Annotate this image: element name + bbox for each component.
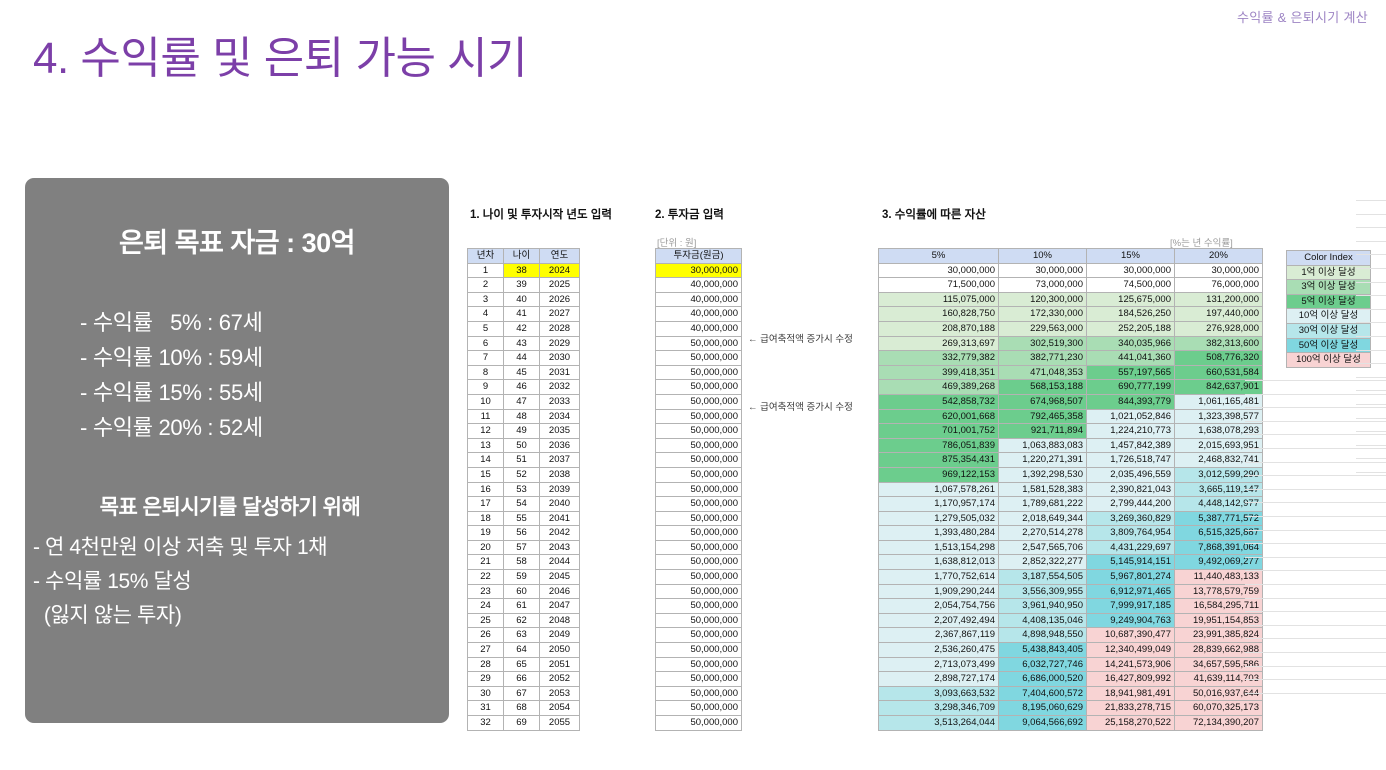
table-row[interactable]: 26632049 xyxy=(468,628,580,643)
asset-value-cell[interactable]: 469,389,268 xyxy=(879,380,999,395)
age-table-cell[interactable]: 27 xyxy=(468,643,504,658)
asset-value-cell[interactable]: 399,418,351 xyxy=(879,365,999,380)
asset-value-cell[interactable]: 340,035,966 xyxy=(1087,336,1175,351)
asset-value-cell[interactable]: 1,220,271,391 xyxy=(999,453,1087,468)
asset-value-cell[interactable]: 2,852,322,277 xyxy=(999,555,1087,570)
table-row[interactable]: 50,000,000 xyxy=(656,716,742,731)
table-row[interactable]: 17542040 xyxy=(468,497,580,512)
age-table-cell[interactable]: 2029 xyxy=(540,336,580,351)
table-row[interactable]: 9462032 xyxy=(468,380,580,395)
asset-value-cell[interactable]: 786,051,839 xyxy=(879,438,999,453)
age-table-cell[interactable]: 2049 xyxy=(540,628,580,643)
table-row[interactable]: 620,001,668792,465,3581,021,052,8461,323… xyxy=(879,409,1263,424)
table-row[interactable]: 29662052 xyxy=(468,672,580,687)
asset-value-cell[interactable]: 1,279,505,032 xyxy=(879,511,999,526)
age-table-cell[interactable]: 52 xyxy=(504,467,540,482)
table-row[interactable]: 12492035 xyxy=(468,424,580,439)
invest-table-body[interactable]: 30,000,00040,000,00040,000,00040,000,000… xyxy=(656,263,742,730)
asset-value-cell[interactable]: 74,500,000 xyxy=(1087,278,1175,293)
asset-value-cell[interactable]: 842,637,901 xyxy=(1175,380,1263,395)
table-row[interactable]: 50,000,000 xyxy=(656,555,742,570)
table-row[interactable]: 25622048 xyxy=(468,613,580,628)
investment-amount-table[interactable]: 투자금(원금) 30,000,00040,000,00040,000,00040… xyxy=(655,248,742,731)
asset-value-cell[interactable]: 1,726,518,747 xyxy=(1087,453,1175,468)
invest-amount-cell[interactable]: 30,000,000 xyxy=(656,263,742,278)
age-table-cell[interactable]: 2025 xyxy=(540,278,580,293)
asset-value-cell[interactable]: 252,205,188 xyxy=(1087,321,1175,336)
table-row[interactable]: 50,000,000 xyxy=(656,570,742,585)
age-table-cell[interactable]: 60 xyxy=(504,584,540,599)
age-table-cell[interactable]: 2047 xyxy=(540,599,580,614)
age-table-cell[interactable]: 2048 xyxy=(540,613,580,628)
asset-value-cell[interactable]: 2,390,821,043 xyxy=(1087,482,1175,497)
invest-amount-cell[interactable]: 50,000,000 xyxy=(656,453,742,468)
table-row[interactable]: 50,000,000 xyxy=(656,482,742,497)
age-table-cell[interactable]: 7 xyxy=(468,351,504,366)
age-table-cell[interactable]: 2036 xyxy=(540,438,580,453)
table-row[interactable]: 50,000,000 xyxy=(656,365,742,380)
asset-value-cell[interactable]: 4,431,229,697 xyxy=(1087,540,1175,555)
table-row[interactable]: 21582044 xyxy=(468,555,580,570)
asset-value-cell[interactable]: 3,961,940,950 xyxy=(999,599,1087,614)
table-row[interactable]: 50,000,000 xyxy=(656,511,742,526)
table-row[interactable]: 28652051 xyxy=(468,657,580,672)
table-row[interactable]: 50,000,000 xyxy=(656,672,742,687)
table-row[interactable]: 50,000,000 xyxy=(656,380,742,395)
asset-value-cell[interactable]: 25,158,270,522 xyxy=(1087,716,1175,731)
age-table-cell[interactable]: 14 xyxy=(468,453,504,468)
asset-value-cell[interactable]: 5,438,843,405 xyxy=(999,643,1087,658)
age-table-cell[interactable]: 56 xyxy=(504,526,540,541)
age-table-cell[interactable]: 3 xyxy=(468,292,504,307)
age-table-cell[interactable]: 8 xyxy=(468,365,504,380)
age-table-cell[interactable]: 2038 xyxy=(540,467,580,482)
age-table-cell[interactable]: 31 xyxy=(468,701,504,716)
table-row[interactable]: 1,638,812,0132,852,322,2775,145,914,1519… xyxy=(879,555,1263,570)
age-table-cell[interactable]: 49 xyxy=(504,424,540,439)
asset-value-cell[interactable]: 844,393,779 xyxy=(1087,394,1175,409)
table-row[interactable]: 50,000,000 xyxy=(656,701,742,716)
asset-value-cell[interactable]: 1,789,681,222 xyxy=(999,497,1087,512)
asset-value-cell[interactable]: 12,340,499,049 xyxy=(1087,643,1175,658)
age-table-cell[interactable]: 19 xyxy=(468,526,504,541)
age-table-cell[interactable]: 5 xyxy=(468,321,504,336)
table-row[interactable]: 2,367,867,1194,898,948,55010,687,390,477… xyxy=(879,628,1263,643)
asset-value-cell[interactable]: 11,440,483,133 xyxy=(1175,570,1263,585)
table-row[interactable]: 399,418,351471,048,353557,197,565660,531… xyxy=(879,365,1263,380)
age-table-cell[interactable]: 2040 xyxy=(540,497,580,512)
age-table-cell[interactable]: 54 xyxy=(504,497,540,512)
asset-value-cell[interactable]: 2,468,832,741 xyxy=(1175,453,1263,468)
age-table-cell[interactable]: 47 xyxy=(504,394,540,409)
invest-amount-cell[interactable]: 50,000,000 xyxy=(656,628,742,643)
table-row[interactable]: 50,000,000 xyxy=(656,424,742,439)
age-table-cell[interactable]: 2031 xyxy=(540,365,580,380)
age-table-cell[interactable]: 61 xyxy=(504,599,540,614)
table-row[interactable]: 2,898,727,1746,686,000,52016,427,809,992… xyxy=(879,672,1263,687)
table-row[interactable]: 50,000,000 xyxy=(656,453,742,468)
invest-amount-cell[interactable]: 50,000,000 xyxy=(656,686,742,701)
asset-value-cell[interactable]: 160,828,750 xyxy=(879,307,999,322)
asset-value-cell[interactable]: 30,000,000 xyxy=(999,263,1087,278)
table-row[interactable]: 50,000,000 xyxy=(656,394,742,409)
invest-amount-cell[interactable]: 50,000,000 xyxy=(656,570,742,585)
table-row[interactable]: 30672053 xyxy=(468,686,580,701)
age-table-cell[interactable]: 2033 xyxy=(540,394,580,409)
invest-amount-cell[interactable]: 50,000,000 xyxy=(656,599,742,614)
table-row[interactable]: 1382024 xyxy=(468,263,580,278)
table-row[interactable]: 3,093,663,5327,404,600,57218,941,981,491… xyxy=(879,686,1263,701)
invest-amount-cell[interactable]: 50,000,000 xyxy=(656,613,742,628)
table-row[interactable]: 1,279,505,0322,018,649,3443,269,360,8295… xyxy=(879,511,1263,526)
invest-amount-cell[interactable]: 40,000,000 xyxy=(656,278,742,293)
asset-value-cell[interactable]: 197,440,000 xyxy=(1175,307,1263,322)
asset-value-cell[interactable]: 21,833,278,715 xyxy=(1087,701,1175,716)
invest-amount-cell[interactable]: 50,000,000 xyxy=(656,336,742,351)
asset-value-cell[interactable]: 5,967,801,274 xyxy=(1087,570,1175,585)
asset-value-cell[interactable]: 701,001,752 xyxy=(879,424,999,439)
age-table-cell[interactable]: 50 xyxy=(504,438,540,453)
asset-value-cell[interactable]: 2,207,492,494 xyxy=(879,613,999,628)
age-table-cell[interactable]: 9 xyxy=(468,380,504,395)
table-row[interactable]: 50,000,000 xyxy=(656,584,742,599)
table-row[interactable]: 2392025 xyxy=(468,278,580,293)
asset-value-cell[interactable]: 2,015,693,951 xyxy=(1175,438,1263,453)
age-table-cell[interactable]: 2044 xyxy=(540,555,580,570)
table-row[interactable]: 50,000,000 xyxy=(656,643,742,658)
table-row[interactable]: 1,170,957,1741,789,681,2222,799,444,2004… xyxy=(879,497,1263,512)
table-row[interactable]: 8452031 xyxy=(468,365,580,380)
invest-amount-cell[interactable]: 50,000,000 xyxy=(656,511,742,526)
table-row[interactable]: 2,536,260,4755,438,843,40512,340,499,049… xyxy=(879,643,1263,658)
table-row[interactable]: 969,122,1531,392,298,5302,035,496,5593,0… xyxy=(879,467,1263,482)
age-table-cell[interactable]: 64 xyxy=(504,643,540,658)
asset-value-cell[interactable]: 2,547,565,706 xyxy=(999,540,1087,555)
table-row[interactable]: 469,389,268568,153,188690,777,199842,637… xyxy=(879,380,1263,395)
invest-amount-cell[interactable]: 40,000,000 xyxy=(656,321,742,336)
invest-amount-cell[interactable]: 50,000,000 xyxy=(656,365,742,380)
asset-value-cell[interactable]: 1,581,528,383 xyxy=(999,482,1087,497)
asset-value-cell[interactable]: 1,170,957,174 xyxy=(879,497,999,512)
age-table-cell[interactable]: 63 xyxy=(504,628,540,643)
age-table-cell[interactable]: 41 xyxy=(504,307,540,322)
age-table-cell[interactable]: 2035 xyxy=(540,424,580,439)
age-table-cell[interactable]: 57 xyxy=(504,540,540,555)
asset-value-cell[interactable]: 4,448,142,977 xyxy=(1175,497,1263,512)
asset-value-cell[interactable]: 16,427,809,992 xyxy=(1087,672,1175,687)
table-row[interactable]: 50,000,000 xyxy=(656,467,742,482)
table-row[interactable]: 50,000,000 xyxy=(656,628,742,643)
age-table-body[interactable]: 1382024239202534020264412027542202864320… xyxy=(468,263,580,730)
asset-value-cell[interactable]: 23,991,385,824 xyxy=(1175,628,1263,643)
age-table-cell[interactable]: 59 xyxy=(504,570,540,585)
asset-value-cell[interactable]: 674,968,507 xyxy=(999,394,1087,409)
asset-value-cell[interactable]: 542,858,732 xyxy=(879,394,999,409)
age-table-cell[interactable]: 42 xyxy=(504,321,540,336)
asset-value-cell[interactable]: 921,711,894 xyxy=(999,424,1087,439)
age-table-cell[interactable]: 30 xyxy=(468,686,504,701)
asset-value-cell[interactable]: 1,063,883,083 xyxy=(999,438,1087,453)
asset-value-cell[interactable]: 2,713,073,499 xyxy=(879,657,999,672)
asset-value-cell[interactable]: 6,032,727,746 xyxy=(999,657,1087,672)
age-table-cell[interactable]: 2046 xyxy=(540,584,580,599)
asset-value-cell[interactable]: 302,519,300 xyxy=(999,336,1087,351)
table-row[interactable]: 19562042 xyxy=(468,526,580,541)
asset-value-cell[interactable]: 208,870,188 xyxy=(879,321,999,336)
age-table-cell[interactable]: 2030 xyxy=(540,351,580,366)
asset-value-cell[interactable]: 620,001,668 xyxy=(879,409,999,424)
table-row[interactable]: 23602046 xyxy=(468,584,580,599)
asset-value-cell[interactable]: 690,777,199 xyxy=(1087,380,1175,395)
age-table-cell[interactable]: 26 xyxy=(468,628,504,643)
asset-value-cell[interactable]: 4,898,948,550 xyxy=(999,628,1087,643)
asset-value-cell[interactable]: 6,515,325,887 xyxy=(1175,526,1263,541)
age-table-cell[interactable]: 4 xyxy=(468,307,504,322)
age-table-cell[interactable]: 2028 xyxy=(540,321,580,336)
invest-amount-cell[interactable]: 50,000,000 xyxy=(656,467,742,482)
asset-value-cell[interactable]: 184,526,250 xyxy=(1087,307,1175,322)
asset-value-cell[interactable]: 34,657,595,586 xyxy=(1175,657,1263,672)
table-row[interactable]: 50,000,000 xyxy=(656,497,742,512)
asset-value-cell[interactable]: 3,298,346,709 xyxy=(879,701,999,716)
table-row[interactable]: 14512037 xyxy=(468,453,580,468)
asset-value-cell[interactable]: 441,041,360 xyxy=(1087,351,1175,366)
asset-value-cell[interactable]: 2,270,514,278 xyxy=(999,526,1087,541)
age-table-cell[interactable]: 48 xyxy=(504,409,540,424)
table-row[interactable]: 20572043 xyxy=(468,540,580,555)
age-table-cell[interactable]: 39 xyxy=(504,278,540,293)
asset-value-cell[interactable]: 2,536,260,475 xyxy=(879,643,999,658)
age-table-cell[interactable]: 1 xyxy=(468,263,504,278)
table-row[interactable]: 1,909,290,2443,556,309,9556,912,971,4651… xyxy=(879,584,1263,599)
table-row[interactable]: 3,513,264,0449,064,566,69225,158,270,522… xyxy=(879,716,1263,731)
age-table-cell[interactable]: 20 xyxy=(468,540,504,555)
table-row[interactable]: 701,001,752921,711,8941,224,210,7731,638… xyxy=(879,424,1263,439)
asset-value-cell[interactable]: 229,563,000 xyxy=(999,321,1087,336)
asset-value-cell[interactable]: 382,771,230 xyxy=(999,351,1087,366)
asset-value-cell[interactable]: 72,134,390,207 xyxy=(1175,716,1263,731)
age-table-cell[interactable]: 28 xyxy=(468,657,504,672)
asset-value-cell[interactable]: 71,500,000 xyxy=(879,278,999,293)
table-row[interactable]: 1,393,480,2842,270,514,2783,809,764,9546… xyxy=(879,526,1263,541)
table-row[interactable]: 40,000,000 xyxy=(656,292,742,307)
asset-value-cell[interactable]: 276,928,000 xyxy=(1175,321,1263,336)
invest-amount-cell[interactable]: 50,000,000 xyxy=(656,380,742,395)
asset-value-cell[interactable]: 557,197,565 xyxy=(1087,365,1175,380)
table-row[interactable]: 27642050 xyxy=(468,643,580,658)
asset-value-cell[interactable]: 1,021,052,846 xyxy=(1087,409,1175,424)
invest-amount-cell[interactable]: 50,000,000 xyxy=(656,657,742,672)
table-row[interactable]: 50,000,000 xyxy=(656,351,742,366)
asset-value-cell[interactable]: 471,048,353 xyxy=(999,365,1087,380)
table-row[interactable]: 50,000,000 xyxy=(656,526,742,541)
age-table-cell[interactable]: 62 xyxy=(504,613,540,628)
asset-value-cell[interactable]: 3,093,663,532 xyxy=(879,686,999,701)
asset-value-cell[interactable]: 1,770,752,614 xyxy=(879,570,999,585)
asset-value-cell[interactable]: 30,000,000 xyxy=(1087,263,1175,278)
asset-value-cell[interactable]: 13,778,579,759 xyxy=(1175,584,1263,599)
table-row[interactable]: 5422028 xyxy=(468,321,580,336)
age-table-cell[interactable]: 2043 xyxy=(540,540,580,555)
asset-value-cell[interactable]: 269,313,697 xyxy=(879,336,999,351)
age-table-cell[interactable]: 45 xyxy=(504,365,540,380)
age-table-cell[interactable]: 2032 xyxy=(540,380,580,395)
asset-value-cell[interactable]: 969,122,153 xyxy=(879,467,999,482)
table-row[interactable]: 22592045 xyxy=(468,570,580,585)
age-table-cell[interactable]: 51 xyxy=(504,453,540,468)
asset-value-cell[interactable]: 1,457,842,389 xyxy=(1087,438,1175,453)
age-table-cell[interactable]: 15 xyxy=(468,467,504,482)
age-table-cell[interactable]: 2053 xyxy=(540,686,580,701)
table-row[interactable]: 40,000,000 xyxy=(656,307,742,322)
asset-value-cell[interactable]: 120,300,000 xyxy=(999,292,1087,307)
table-row[interactable]: 6432029 xyxy=(468,336,580,351)
age-table-cell[interactable]: 65 xyxy=(504,657,540,672)
table-row[interactable]: 71,500,00073,000,00074,500,00076,000,000 xyxy=(879,278,1263,293)
asset-value-cell[interactable]: 3,269,360,829 xyxy=(1087,511,1175,526)
age-table-cell[interactable]: 13 xyxy=(468,438,504,453)
age-table-cell[interactable]: 2042 xyxy=(540,526,580,541)
age-table-cell[interactable]: 46 xyxy=(504,380,540,395)
table-row[interactable]: 10472033 xyxy=(468,394,580,409)
age-table-cell[interactable]: 32 xyxy=(468,716,504,731)
age-table-cell[interactable]: 2050 xyxy=(540,643,580,658)
age-table-cell[interactable]: 16 xyxy=(468,482,504,497)
asset-value-cell[interactable]: 2,799,444,200 xyxy=(1087,497,1175,512)
asset-value-cell[interactable]: 660,531,584 xyxy=(1175,365,1263,380)
asset-value-cell[interactable]: 1,393,480,284 xyxy=(879,526,999,541)
asset-value-cell[interactable]: 5,145,914,151 xyxy=(1087,555,1175,570)
age-table-cell[interactable]: 2052 xyxy=(540,672,580,687)
table-row[interactable]: 50,000,000 xyxy=(656,540,742,555)
table-row[interactable]: 50,000,000 xyxy=(656,657,742,672)
age-table-cell[interactable]: 68 xyxy=(504,701,540,716)
age-table-cell[interactable]: 38 xyxy=(504,263,540,278)
age-year-table[interactable]: 년차나이연도 138202423920253402026441202754220… xyxy=(467,248,580,731)
table-row[interactable]: 2,207,492,4944,408,135,0469,249,904,7631… xyxy=(879,613,1263,628)
age-table-cell[interactable]: 17 xyxy=(468,497,504,512)
age-table-cell[interactable]: 2027 xyxy=(540,307,580,322)
age-table-cell[interactable]: 2041 xyxy=(540,511,580,526)
asset-value-cell[interactable]: 4,408,135,046 xyxy=(999,613,1087,628)
asset-value-cell[interactable]: 382,313,600 xyxy=(1175,336,1263,351)
table-row[interactable]: 269,313,697302,519,300340,035,966382,313… xyxy=(879,336,1263,351)
asset-value-cell[interactable]: 73,000,000 xyxy=(999,278,1087,293)
asset-value-cell[interactable]: 332,779,382 xyxy=(879,351,999,366)
asset-value-cell[interactable]: 125,675,000 xyxy=(1087,292,1175,307)
table-row[interactable]: 208,870,188229,563,000252,205,188276,928… xyxy=(879,321,1263,336)
invest-amount-cell[interactable]: 40,000,000 xyxy=(656,307,742,322)
age-table-cell[interactable]: 2051 xyxy=(540,657,580,672)
asset-value-cell[interactable]: 1,638,812,013 xyxy=(879,555,999,570)
asset-value-cell[interactable]: 8,195,060,629 xyxy=(999,701,1087,716)
asset-value-cell[interactable]: 7,999,917,185 xyxy=(1087,599,1175,614)
asset-value-cell[interactable]: 76,000,000 xyxy=(1175,278,1263,293)
asset-value-cell[interactable]: 5,387,771,572 xyxy=(1175,511,1263,526)
asset-value-cell[interactable]: 9,249,904,763 xyxy=(1087,613,1175,628)
age-table-cell[interactable]: 2 xyxy=(468,278,504,293)
table-row[interactable]: 2,054,754,7563,961,940,9507,999,917,1851… xyxy=(879,599,1263,614)
age-table-cell[interactable]: 2045 xyxy=(540,570,580,585)
asset-value-cell[interactable]: 568,153,188 xyxy=(999,380,1087,395)
asset-value-cell[interactable]: 2,018,649,344 xyxy=(999,511,1087,526)
table-row[interactable]: 13502036 xyxy=(468,438,580,453)
table-row[interactable]: 50,000,000 xyxy=(656,686,742,701)
table-row[interactable]: 30,000,00030,000,00030,000,00030,000,000 xyxy=(879,263,1263,278)
asset-value-cell[interactable]: 2,367,867,119 xyxy=(879,628,999,643)
table-row[interactable]: 3402026 xyxy=(468,292,580,307)
table-row[interactable]: 32692055 xyxy=(468,716,580,731)
table-row[interactable]: 1,513,154,2982,547,565,7064,431,229,6977… xyxy=(879,540,1263,555)
invest-amount-cell[interactable]: 50,000,000 xyxy=(656,424,742,439)
asset-value-cell[interactable]: 18,941,981,491 xyxy=(1087,686,1175,701)
age-table-cell[interactable]: 6 xyxy=(468,336,504,351)
age-table-cell[interactable]: 23 xyxy=(468,584,504,599)
age-table-cell[interactable]: 11 xyxy=(468,409,504,424)
age-table-cell[interactable]: 18 xyxy=(468,511,504,526)
asset-value-cell[interactable]: 792,465,358 xyxy=(999,409,1087,424)
invest-amount-cell[interactable]: 50,000,000 xyxy=(656,497,742,512)
invest-amount-cell[interactable]: 50,000,000 xyxy=(656,716,742,731)
asset-value-cell[interactable]: 30,000,000 xyxy=(879,263,999,278)
table-row[interactable]: 542,858,732674,968,507844,393,7791,061,1… xyxy=(879,394,1263,409)
invest-amount-cell[interactable]: 50,000,000 xyxy=(656,672,742,687)
asset-value-cell[interactable]: 2,054,754,756 xyxy=(879,599,999,614)
table-row[interactable]: 4412027 xyxy=(468,307,580,322)
age-table-cell[interactable]: 10 xyxy=(468,394,504,409)
asset-value-cell[interactable]: 3,809,764,954 xyxy=(1087,526,1175,541)
table-row[interactable]: 50,000,000 xyxy=(656,613,742,628)
age-table-cell[interactable]: 2039 xyxy=(540,482,580,497)
asset-value-cell[interactable]: 1,909,290,244 xyxy=(879,584,999,599)
invest-amount-cell[interactable]: 40,000,000 xyxy=(656,292,742,307)
age-table-cell[interactable]: 29 xyxy=(468,672,504,687)
asset-value-cell[interactable]: 1,638,078,293 xyxy=(1175,424,1263,439)
table-row[interactable]: 31682054 xyxy=(468,701,580,716)
asset-value-cell[interactable]: 115,075,000 xyxy=(879,292,999,307)
age-table-cell[interactable]: 12 xyxy=(468,424,504,439)
age-table-cell[interactable]: 66 xyxy=(504,672,540,687)
invest-amount-cell[interactable]: 50,000,000 xyxy=(656,526,742,541)
table-row[interactable]: 18552041 xyxy=(468,511,580,526)
invest-amount-cell[interactable]: 50,000,000 xyxy=(656,555,742,570)
asset-value-cell[interactable]: 875,354,431 xyxy=(879,453,999,468)
asset-value-cell[interactable]: 508,776,320 xyxy=(1175,351,1263,366)
age-table-cell[interactable]: 55 xyxy=(504,511,540,526)
asset-value-cell[interactable]: 2,035,496,559 xyxy=(1087,467,1175,482)
age-table-cell[interactable]: 67 xyxy=(504,686,540,701)
age-table-cell[interactable]: 40 xyxy=(504,292,540,307)
asset-value-cell[interactable]: 9,064,566,692 xyxy=(999,716,1087,731)
table-row[interactable]: 2,713,073,4996,032,727,74614,241,573,906… xyxy=(879,657,1263,672)
asset-value-cell[interactable]: 6,686,000,520 xyxy=(999,672,1087,687)
age-table-cell[interactable]: 2026 xyxy=(540,292,580,307)
asset-value-cell[interactable]: 3,513,264,044 xyxy=(879,716,999,731)
age-table-cell[interactable]: 2055 xyxy=(540,716,580,731)
age-table-cell[interactable]: 2034 xyxy=(540,409,580,424)
invest-amount-cell[interactable]: 50,000,000 xyxy=(656,540,742,555)
table-row[interactable]: 332,779,382382,771,230441,041,360508,776… xyxy=(879,351,1263,366)
asset-value-cell[interactable]: 3,556,309,955 xyxy=(999,584,1087,599)
table-row[interactable]: 40,000,000 xyxy=(656,278,742,293)
table-row[interactable]: 11482034 xyxy=(468,409,580,424)
asset-value-cell[interactable]: 131,200,000 xyxy=(1175,292,1263,307)
table-row[interactable]: 50,000,000 xyxy=(656,438,742,453)
table-row[interactable]: 24612047 xyxy=(468,599,580,614)
table-row[interactable]: 115,075,000120,300,000125,675,000131,200… xyxy=(879,292,1263,307)
table-row[interactable]: 30,000,000 xyxy=(656,263,742,278)
asset-value-cell[interactable]: 3,187,554,505 xyxy=(999,570,1087,585)
